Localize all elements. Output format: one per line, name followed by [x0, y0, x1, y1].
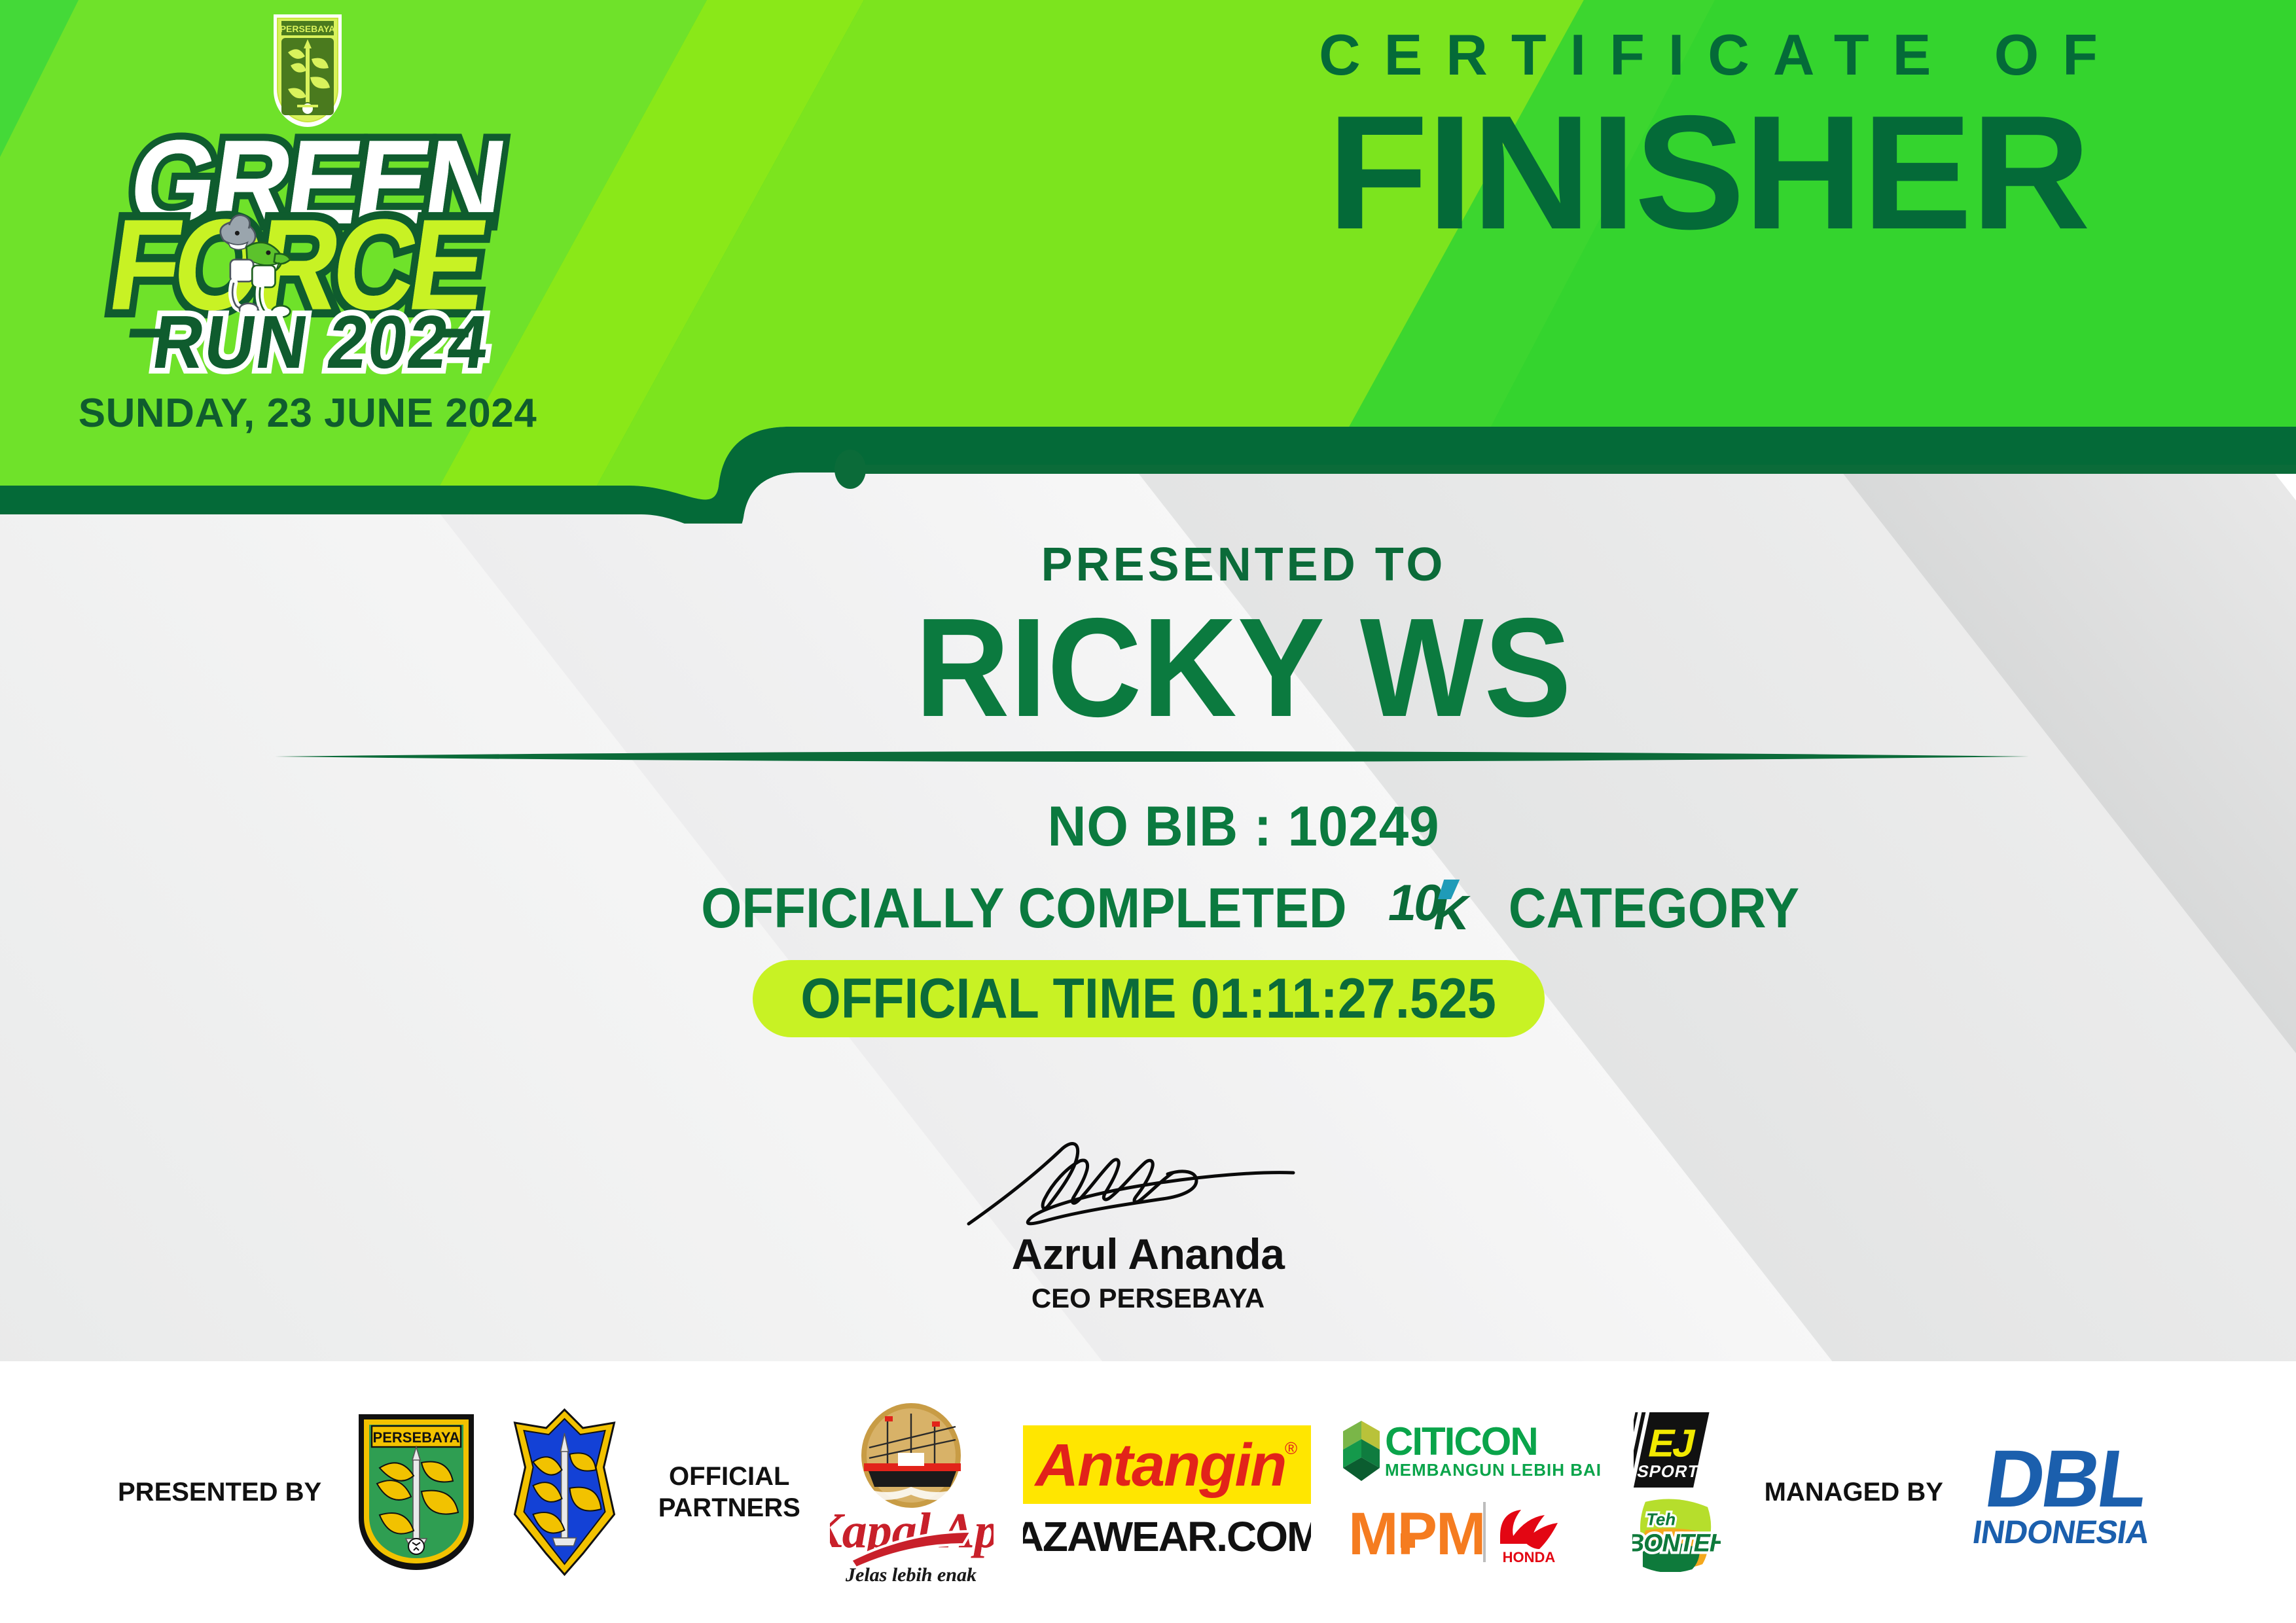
sponsor-footer: PRESENTED BY PERSEBAYA	[0, 1361, 2296, 1623]
surabaya-city-logo-icon	[501, 1407, 629, 1577]
svg-text:PERSEBAYA: PERSEBAYA	[280, 24, 336, 34]
svg-text:RUN 2024: RUN 2024	[148, 300, 495, 384]
official-partners-line1: OFFICIAL	[658, 1461, 800, 1492]
certificate-body: PRESENTED TO RICKY WS NO BIB : 10249 OFF…	[0, 473, 2296, 1361]
sponsor-dbl-indonesia: DBL INDONESIA	[1962, 1433, 2178, 1551]
sponsor-ej-bonteh: EJ SPORT Teh Teh BONTEH BONTEH	[1632, 1412, 1721, 1572]
official-partners-label: OFFICIAL PARTNERS	[658, 1461, 800, 1524]
bib-number-line: NO BIB : 10249	[622, 794, 1865, 859]
managed-by-label: MANAGED BY	[1765, 1476, 1943, 1508]
svg-text:EJ: EJ	[1645, 1421, 1699, 1465]
kapal-api-logo-icon: Kapal Api Kapal Api Jelas lebih enak Jel…	[830, 1400, 994, 1584]
official-time-badge: OFFICIAL TIME 01:11:27.525	[753, 960, 1545, 1037]
svg-text:Teh: Teh	[1646, 1511, 1676, 1529]
svg-text:HONDA: HONDA	[1503, 1549, 1556, 1565]
official-time-text: OFFICIAL TIME 01:11:27.525	[801, 967, 1497, 1031]
official-partners-line2: PARTNERS	[658, 1492, 800, 1524]
sponsor-kapal-api: Kapal Api Kapal Api Jelas lebih enak Jel…	[830, 1400, 994, 1584]
category-10k-icon: 10 K	[1385, 873, 1483, 944]
svg-text:MPM: MPM	[1348, 1501, 1485, 1567]
category-label: CATEGORY	[1509, 876, 1799, 941]
citicon-tagline: MEMBANGUN LEBIH BAIK	[1385, 1460, 1602, 1480]
svg-text:DBL: DBL	[1980, 1434, 2152, 1524]
citicon-logo-icon: CITICON MEMBANGUN LEBIH BAIK	[1340, 1416, 1602, 1488]
teh-bonteh-logo-icon: Teh Teh BONTEH BONTEH	[1632, 1497, 1721, 1572]
event-date: SUNDAY, 23 JUNE 2024	[13, 390, 602, 437]
svg-text:CITICON: CITICON	[1385, 1419, 1537, 1463]
presented-to-label: PRESENTED TO	[589, 538, 1898, 592]
signatory-name: Azrul Ananda	[821, 1229, 1475, 1279]
event-logo-block: PERSEBAYA GREEN GREEN	[13, 12, 602, 437]
signatory-role: CEO PERSEBAYA	[821, 1283, 1475, 1314]
sponsor-persebaya: PERSEBAYA	[351, 1410, 482, 1574]
svg-text:AZAWEAR.COM: AZAWEAR.COM	[1023, 1513, 1311, 1559]
ej-sport-logo-icon: EJ SPORT	[1634, 1412, 1719, 1488]
persebaya-logo-icon: PERSEBAYA	[351, 1410, 482, 1574]
officially-completed-label: OFFICIALLY COMPLETED	[701, 876, 1346, 941]
recipient-name: RICKY WS	[513, 597, 1974, 738]
presented-by-label: PRESENTED BY	[118, 1476, 321, 1508]
certificate-page: CERTIFICATE OF FINISHER PERSEBAYA	[0, 0, 2296, 1623]
completed-category-row: OFFICIALLY COMPLETED 10 K CATEGORY	[458, 873, 2029, 944]
certificate-header: CERTIFICATE OF FINISHER PERSEBAYA	[0, 0, 2296, 473]
accent-dot-line	[834, 450, 2296, 489]
green-force-run-logo: GREEN GREEN FORCE FORCE	[59, 124, 556, 386]
antangin-logo-icon: Antangin ®	[1023, 1425, 1311, 1504]
azawear-logo-icon: AZAWEAR.COM	[1023, 1513, 1311, 1559]
sponsor-surabaya-city	[501, 1407, 629, 1577]
signature-icon	[932, 1133, 1364, 1232]
sponsor-antangin-azawear: Antangin ® AZAWEAR.COM	[1023, 1425, 1311, 1559]
divider-line	[275, 751, 2029, 762]
svg-text:PERSEBAYA: PERSEBAYA	[373, 1429, 460, 1446]
svg-text:BONTEH: BONTEH	[1632, 1529, 1721, 1556]
sponsor-citicon-mpm: CITICON MEMBANGUN LEBIH BAIK MPM HONDA	[1340, 1416, 1602, 1569]
svg-text:Jelas lebih enak: Jelas lebih enak	[845, 1564, 977, 1584]
svg-text:®: ®	[1285, 1438, 1297, 1458]
signature-block: Azrul Ananda CEO PERSEBAYA	[821, 1133, 1475, 1314]
persebaya-crest-icon: PERSEBAYA	[268, 12, 347, 130]
dbl-indonesia-logo-icon: DBL INDONESIA	[1962, 1433, 2178, 1551]
svg-text:Antangin: Antangin	[1034, 1432, 1286, 1499]
mpm-honda-logo-icon: MPM HONDA	[1340, 1497, 1602, 1569]
svg-text:INDONESIA: INDONESIA	[1971, 1514, 2152, 1550]
svg-text:SPORT: SPORT	[1636, 1461, 1701, 1481]
